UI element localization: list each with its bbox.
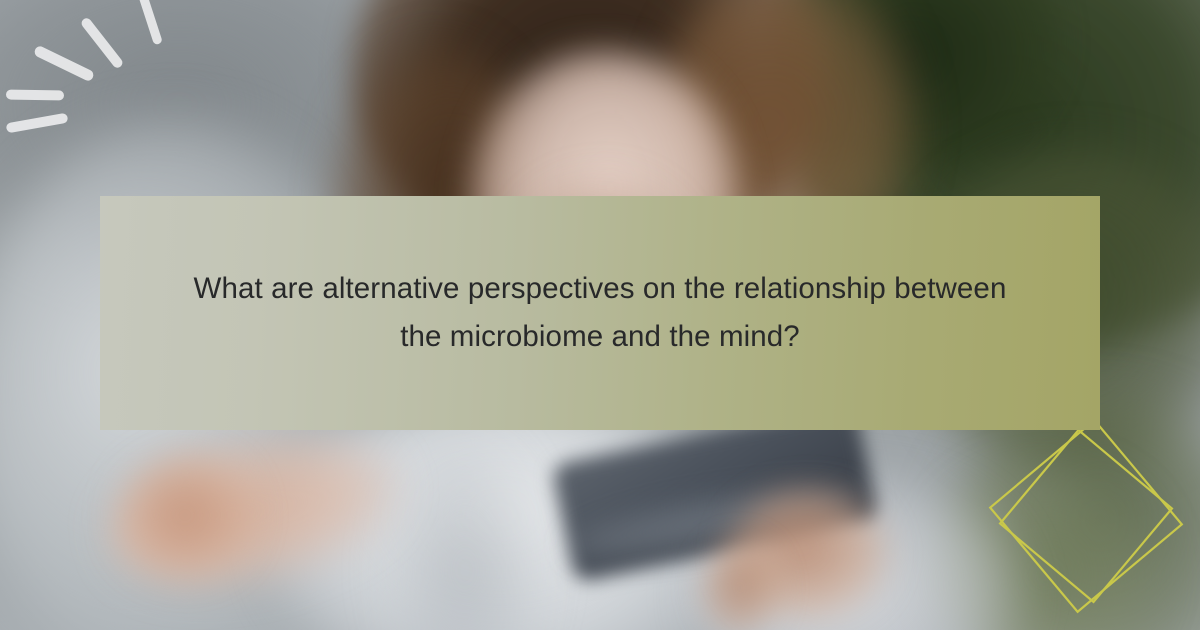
sparkle-burst-decoration <box>0 0 200 170</box>
sparkle-dash-3 <box>33 45 95 83</box>
sparkle-dash-4 <box>6 89 64 100</box>
sparkle-dash-1 <box>135 0 163 45</box>
share-card: What are alternative perspectives on the… <box>0 0 1200 630</box>
sparkle-dash-2 <box>80 16 125 69</box>
sparkle-dash-5 <box>6 113 69 134</box>
caption-banner: What are alternative perspectives on the… <box>100 196 1100 430</box>
headline-text: What are alternative perspectives on the… <box>180 265 1020 361</box>
